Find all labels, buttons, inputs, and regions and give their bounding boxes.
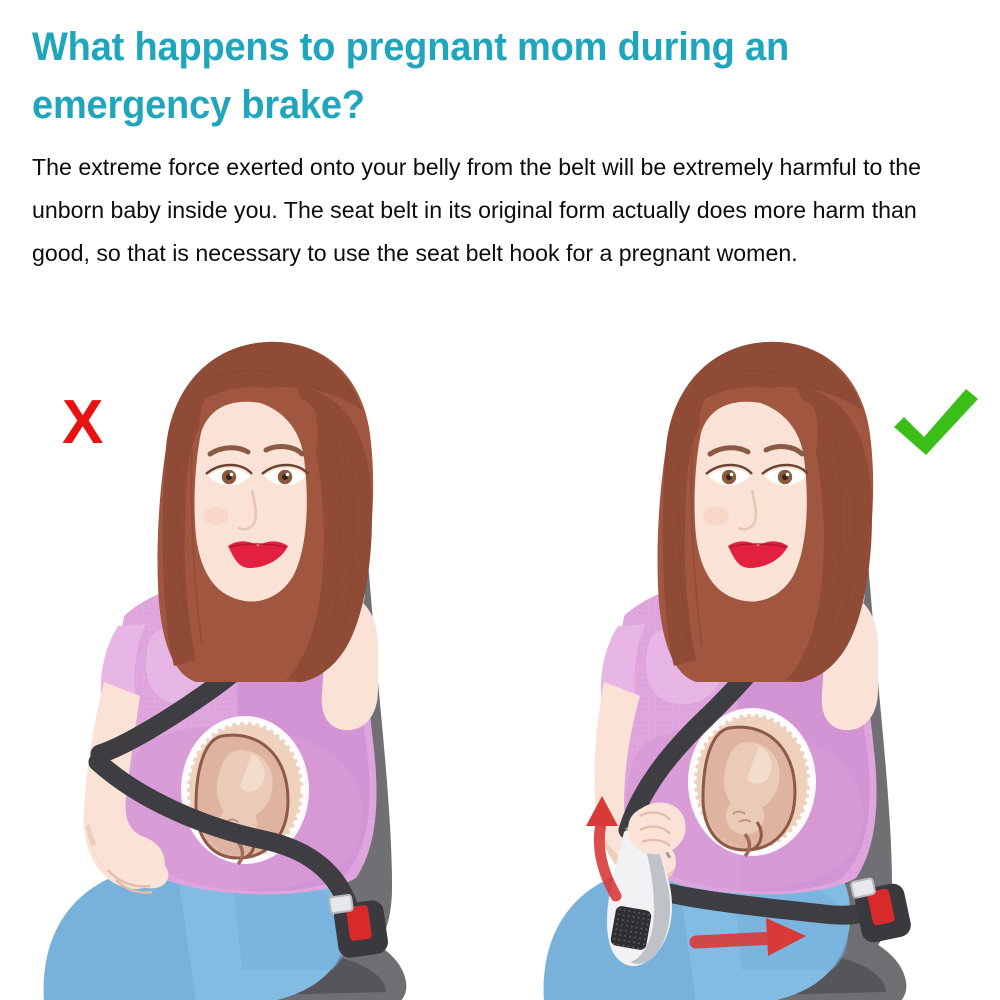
- body-paragraph: The extreme force exerted onto your bell…: [32, 146, 958, 274]
- womb-with-fetus: [688, 708, 816, 856]
- infographic-page: What happens to pregnant mom during an e…: [0, 0, 1000, 1000]
- check-mark-icon: [890, 385, 980, 457]
- illustration-area: [0, 330, 1000, 1000]
- cross-mark-icon: X: [62, 392, 103, 454]
- page-title: What happens to pregnant mom during an e…: [32, 18, 921, 134]
- text-block: What happens to pregnant mom during an e…: [32, 18, 968, 274]
